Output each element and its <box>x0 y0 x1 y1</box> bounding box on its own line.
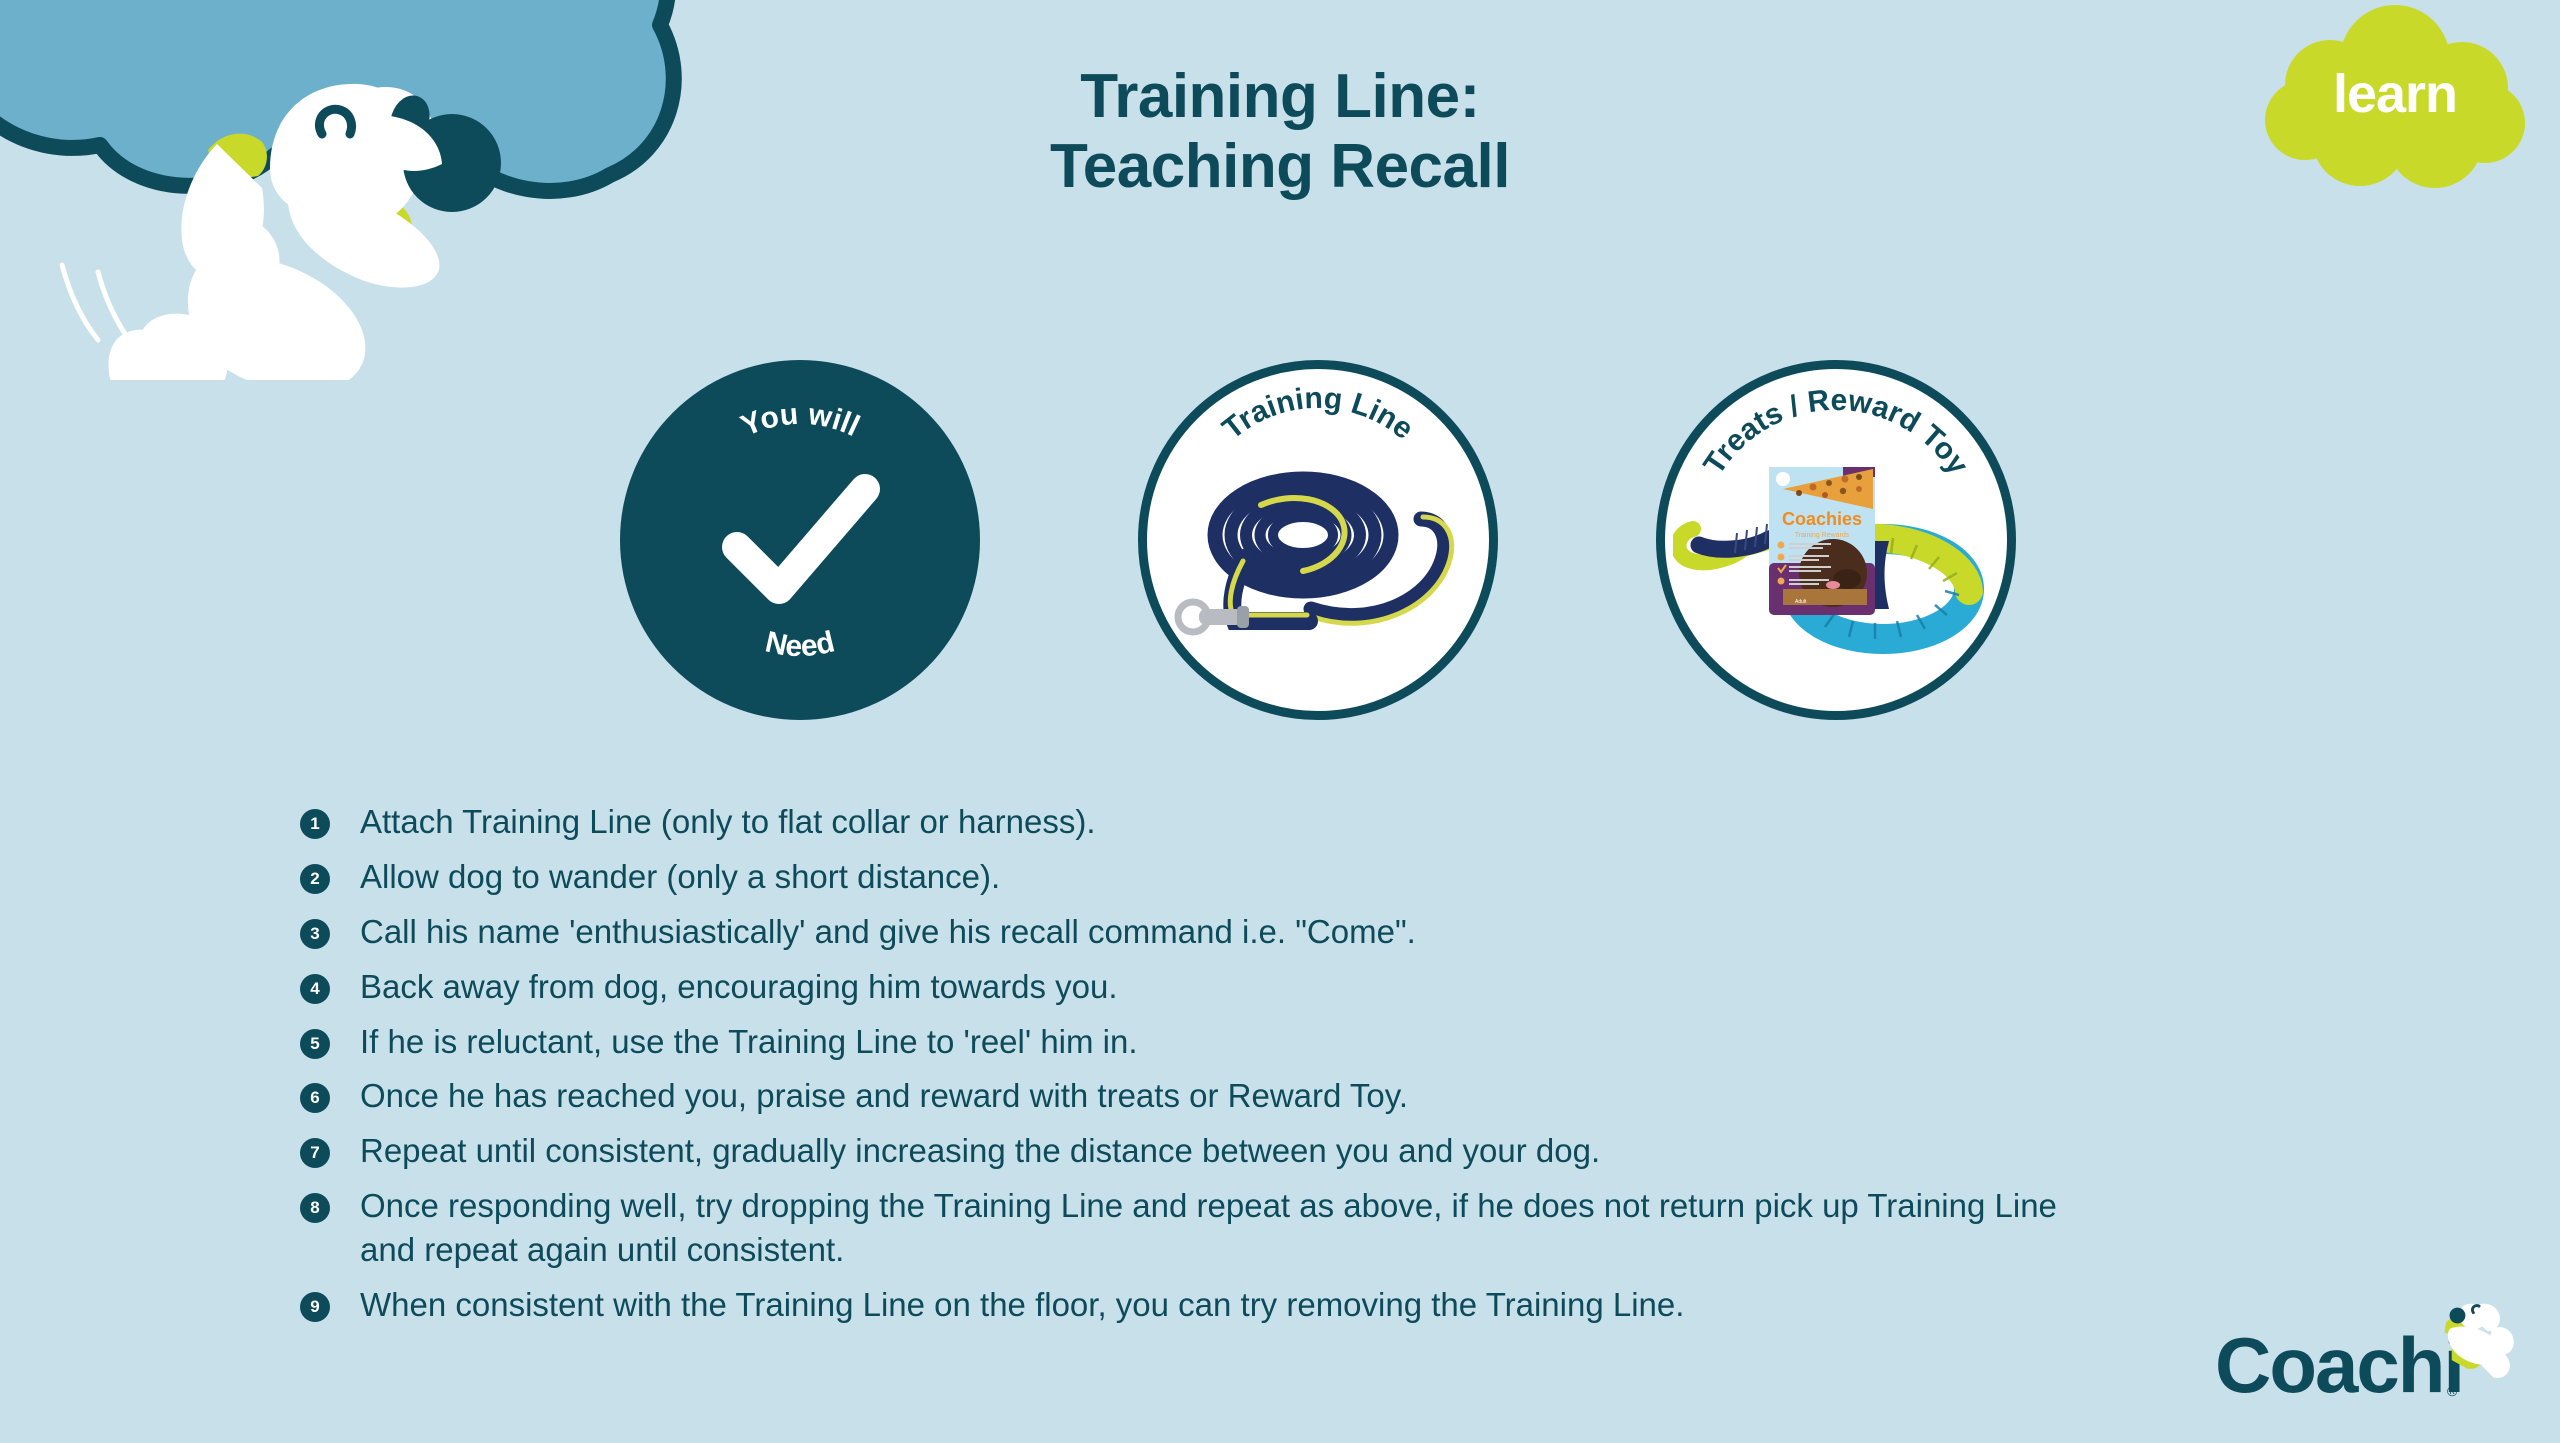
step-text: Call his name 'enthusiastically' and giv… <box>360 910 1416 954</box>
circle-training-line: Training Line <box>1138 360 1498 720</box>
list-item: 1Attach Training Line (only to flat coll… <box>300 800 2300 844</box>
trademark-symbol: ® <box>2447 1383 2458 1399</box>
step-text: Attach Training Line (only to flat colla… <box>360 800 1096 844</box>
list-item: 3Call his name 'enthusiastically' and gi… <box>300 910 2300 954</box>
step-number-badge: 4 <box>300 974 330 1004</box>
page-title: Training Line: Teaching Recall <box>0 62 2560 202</box>
step-text: Once responding well, try dropping the T… <box>360 1184 2060 1272</box>
step-text: Repeat until consistent, gradually incre… <box>360 1129 1600 1173</box>
step-number-badge: 8 <box>300 1193 330 1223</box>
coachi-logo: Coachi ® <box>2215 1300 2525 1420</box>
circle-treats-reward-toy: Treats / Reward Toy <box>1656 360 2016 720</box>
list-item: 8Once responding well, try dropping the … <box>300 1184 2300 1272</box>
dog-chest <box>288 196 439 288</box>
pack-brand: Coachies <box>1782 509 1862 529</box>
title-line-2: Teaching Recall <box>0 132 2560 202</box>
arc-text-need: Need <box>620 360 980 720</box>
requirements-row: You will Need Training Line <box>0 360 2560 780</box>
step-text: If he is reluctant, use the Training Lin… <box>360 1020 1138 1064</box>
step-text: When consistent with the Training Line o… <box>360 1283 1684 1327</box>
step-text: Allow dog to wander (only a short distan… <box>360 855 1000 899</box>
step-number-badge: 5 <box>300 1029 330 1059</box>
arc-label-bottom: Need <box>762 625 837 663</box>
svg-text:Training Line: Training Line <box>1216 382 1419 446</box>
poster-canvas: learn Training Line: Teaching Recall You… <box>0 0 2560 1443</box>
list-item: 5If he is reluctant, use the Training Li… <box>300 1020 2300 1064</box>
list-item: 2Allow dog to wander (only a short dista… <box>300 855 2300 899</box>
step-number-badge: 9 <box>300 1292 330 1322</box>
instruction-steps-list: 1Attach Training Line (only to flat coll… <box>300 800 2300 1338</box>
circle-you-will-need: You will Need <box>620 360 980 720</box>
coachi-wordmark: Coachi <box>2215 1321 2463 1409</box>
list-item: 6Once he has reached you, praise and rew… <box>300 1074 2300 1118</box>
step-number-badge: 2 <box>300 864 330 894</box>
motion-lines <box>62 265 132 344</box>
pack-variant: Adult <box>1795 599 1807 605</box>
step-number-badge: 6 <box>300 1083 330 1113</box>
step-text: Back away from dog, encouraging him towa… <box>360 965 1118 1009</box>
step-number-badge: 1 <box>300 809 330 839</box>
svg-text:Need: Need <box>762 625 837 663</box>
coachies-pack: Coachies Training Rewards <box>1769 467 1875 615</box>
step-number-badge: 3 <box>300 919 330 949</box>
step-number-badge: 7 <box>300 1138 330 1168</box>
list-item: 9When consistent with the Training Line … <box>300 1283 2300 1327</box>
arc-label-top: Training Line <box>1216 382 1419 446</box>
list-item: 7Repeat until consistent, gradually incr… <box>300 1129 2300 1173</box>
training-line-photo <box>1161 461 1476 661</box>
list-item: 4Back away from dog, encouraging him tow… <box>300 965 2300 1009</box>
pack-subtitle: Training Rewards <box>1795 532 1850 539</box>
treats-and-toy-photo: Coachies Training Rewards <box>1673 467 2003 667</box>
step-text: Once he has reached you, praise and rewa… <box>360 1074 1408 1118</box>
title-line-1: Training Line: <box>0 62 2560 132</box>
